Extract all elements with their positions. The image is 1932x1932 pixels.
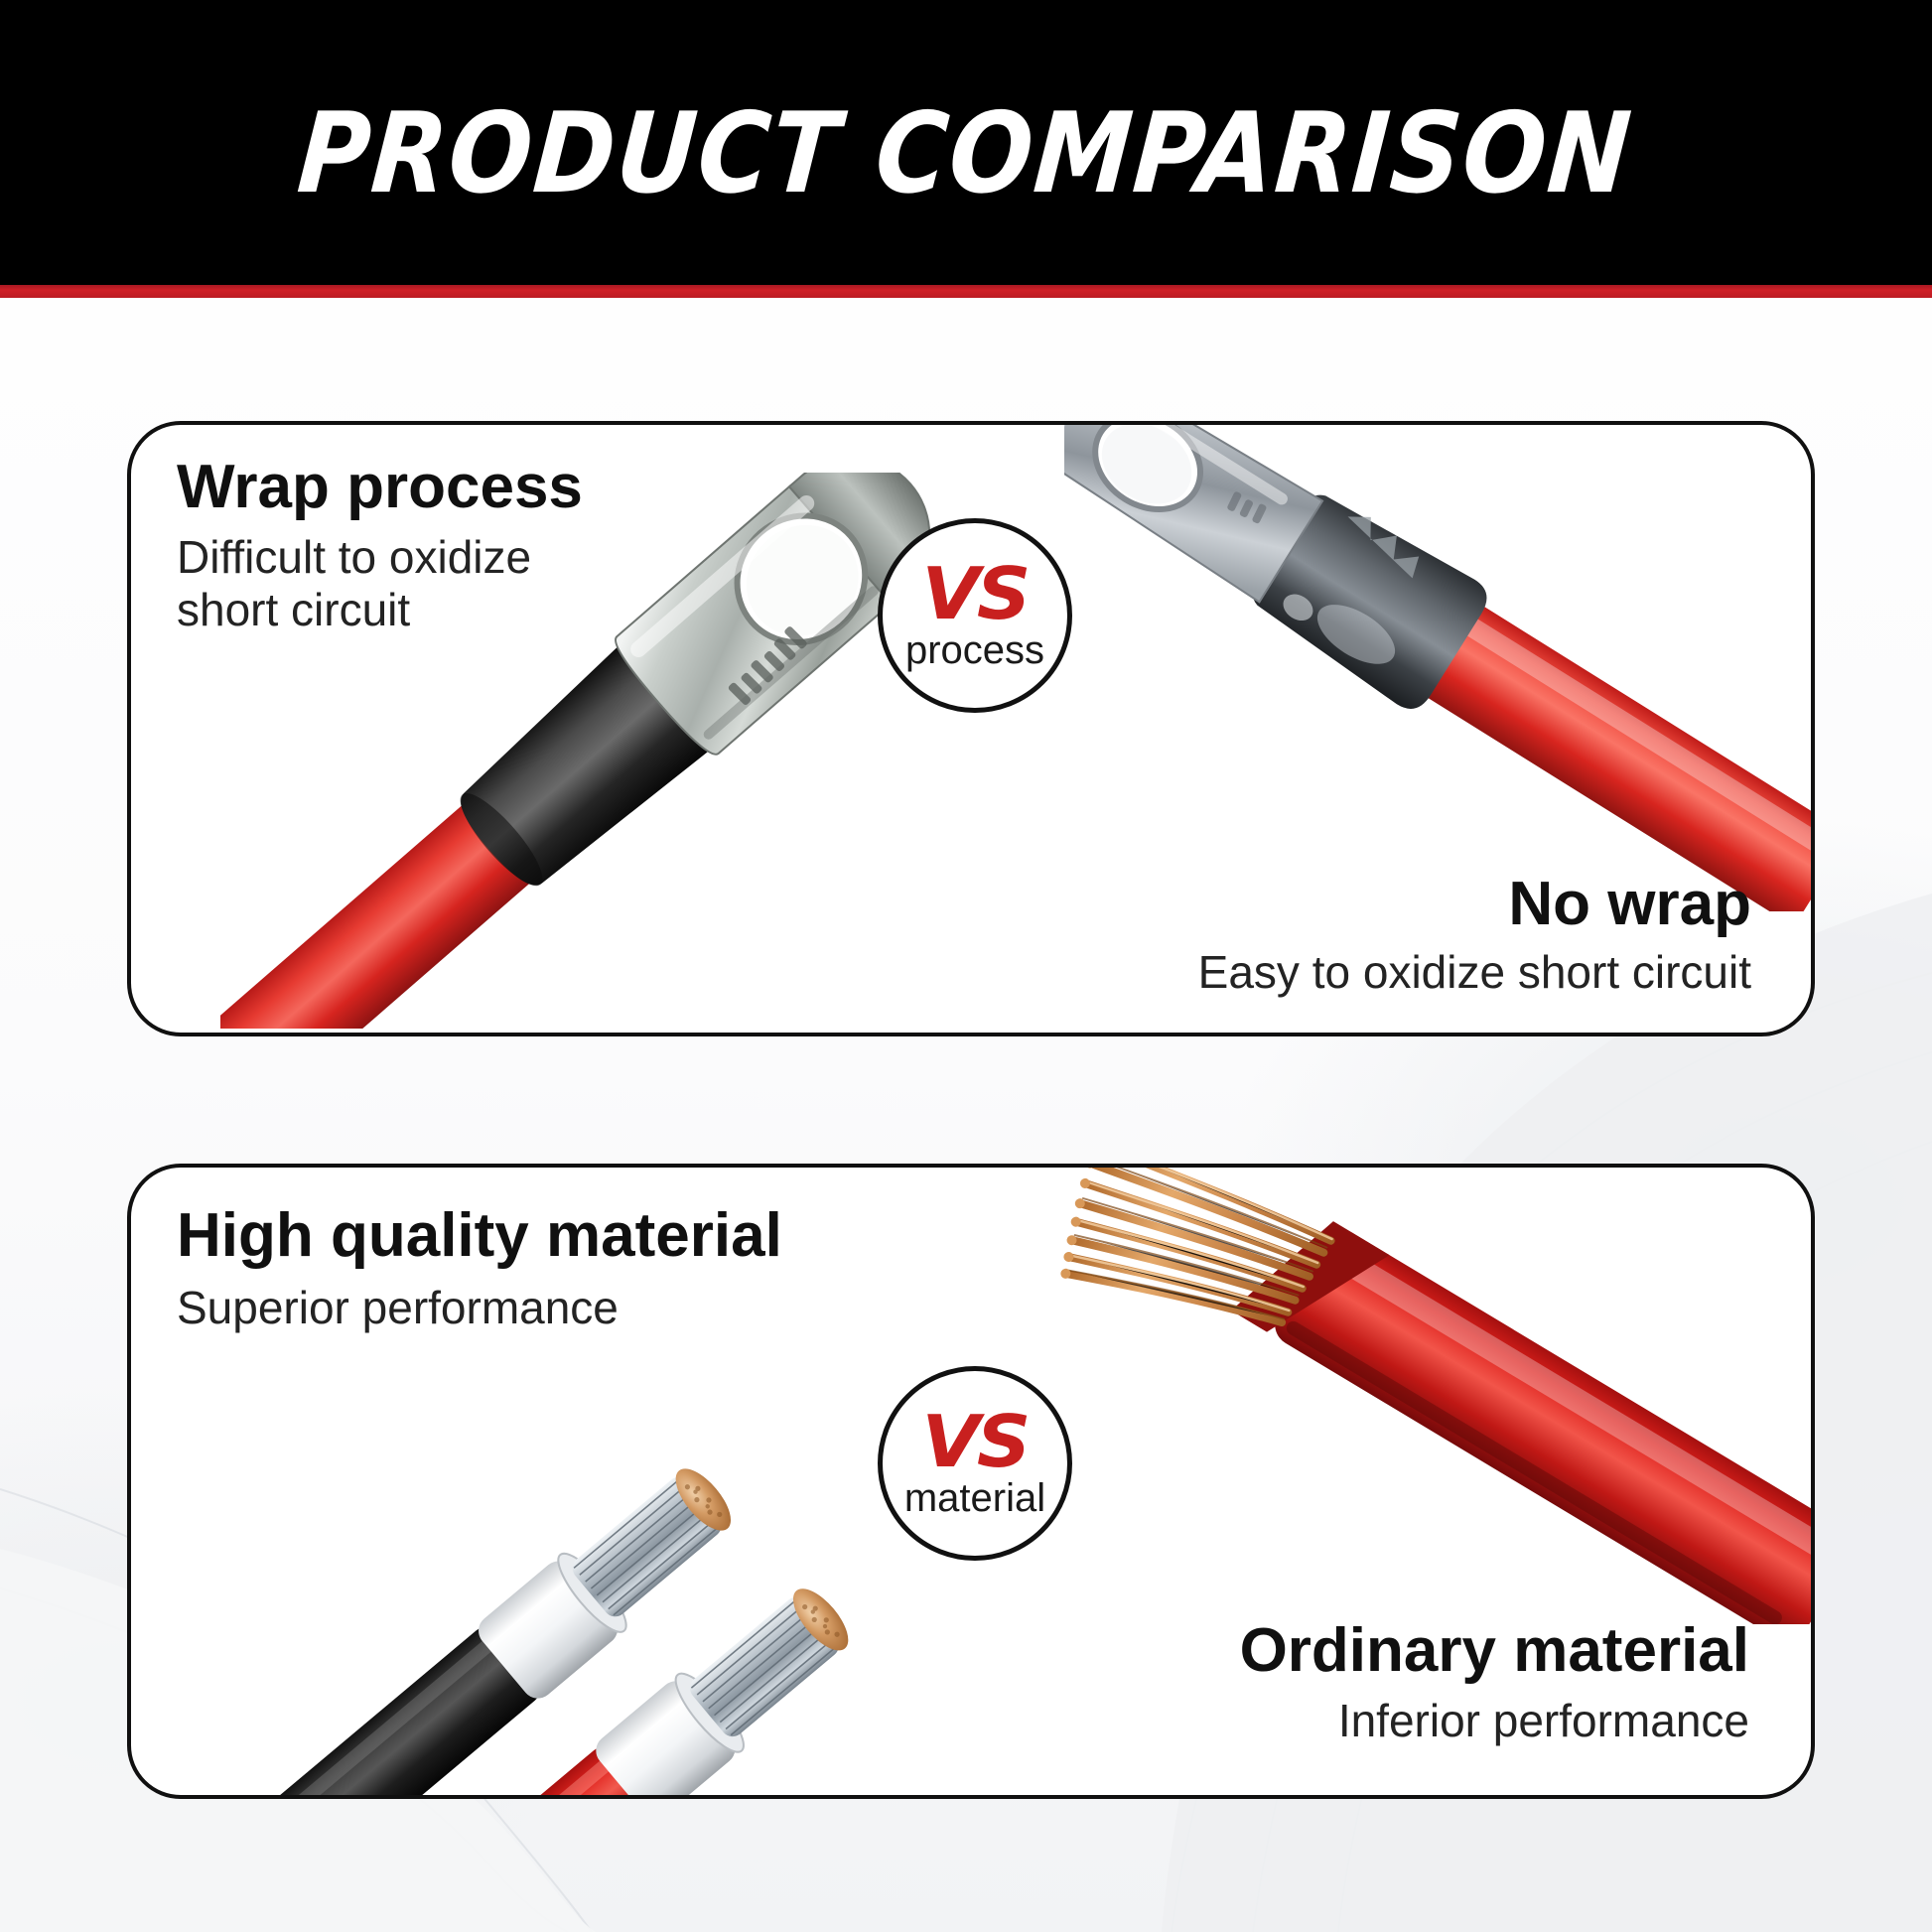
bare-copper-strand-wire-image xyxy=(1025,1164,1815,1624)
ordinary-material-title: Ordinary material xyxy=(1240,1618,1749,1683)
high-quality-material-title: High quality material xyxy=(177,1203,782,1268)
wrap-process-subtitle: Difficult to oxidize short circuit xyxy=(177,531,583,637)
tinned-copper-wire-pair-image xyxy=(220,1287,975,1799)
no-wrap-subtitle: Easy to oxidize short circuit xyxy=(1198,946,1751,999)
page-title: PRODUCT COMPARISON xyxy=(294,76,1637,209)
product-comparison-infographic: PRODUCT COMPARISON xyxy=(0,0,1932,1932)
vs-badge-material: VS material xyxy=(878,1366,1072,1561)
high-quality-material-subtitle: Superior performance xyxy=(177,1282,782,1334)
vs-label-material: VS xyxy=(922,1409,1029,1474)
bare-crimped-terminal-image xyxy=(1064,421,1815,911)
wrap-process-subtitle-line-2: short circuit xyxy=(177,584,583,636)
vs-caption-process: process xyxy=(905,630,1044,670)
wrap-process-text-block: Wrap process Difficult to oxidize short … xyxy=(177,455,583,637)
comparison-card-wrap: Wrap process Difficult to oxidize short … xyxy=(127,421,1815,1036)
wrap-process-subtitle-line-1: Difficult to oxidize xyxy=(177,531,583,584)
no-wrap-title: No wrap xyxy=(1198,872,1751,936)
vs-label-process: VS xyxy=(922,561,1029,626)
vs-badge-process: VS process xyxy=(878,518,1072,713)
header-accent-stripe xyxy=(0,285,1932,298)
high-quality-material-text-block: High quality material Superior performan… xyxy=(177,1203,782,1334)
ordinary-material-subtitle: Inferior performance xyxy=(1240,1695,1749,1747)
ordinary-material-text-block: Ordinary material Inferior performance xyxy=(1240,1618,1749,1747)
vs-caption-material: material xyxy=(904,1478,1045,1518)
wrap-process-title: Wrap process xyxy=(177,455,583,519)
no-wrap-text-block: No wrap Easy to oxidize short circuit xyxy=(1198,872,1751,999)
header-bar: PRODUCT COMPARISON xyxy=(0,0,1932,285)
